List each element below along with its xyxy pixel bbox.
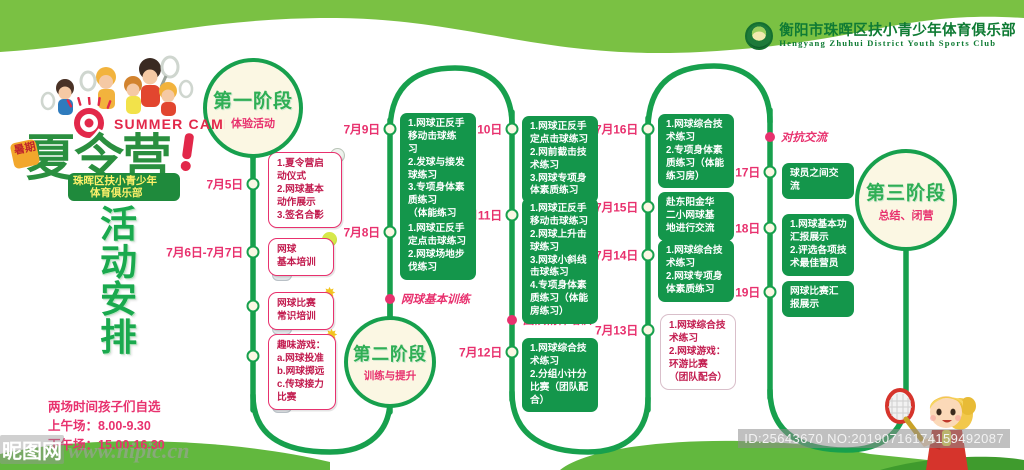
- watermark-site-box: 昵图网: [0, 435, 64, 464]
- club-name-cn: 衡阳市珠晖区扶小青少年体育俱乐部: [779, 24, 1016, 39]
- card-0708[interactable]: 1.网球正反手 定点击球练习 2.网球场地步 伐练习: [400, 218, 476, 280]
- club-name-en: Hengyang Zhuhui District Youth Sports Cl…: [779, 39, 1016, 48]
- card-0714[interactable]: 1.网球综合技 术练习 2.网球专项身 体素质练习: [658, 240, 734, 302]
- card-0719[interactable]: 网球比赛汇 报展示: [782, 281, 854, 317]
- section-marker-basic-training: [385, 294, 395, 304]
- phase-2-subtitle: 训练与提升: [364, 368, 417, 383]
- card-0710[interactable]: 1.网球正反手 定点击球练习 2.网前截击技 术练习 3.网球专项身 体素质练习: [522, 116, 598, 203]
- phase-2-title: 第二阶段: [353, 341, 427, 366]
- page-title-char-0: 活: [74, 206, 164, 244]
- phase-bubble-3[interactable]: 第三阶段 总结、闭营: [855, 149, 957, 251]
- card-0715[interactable]: 赴东阳金华 二小网球基 地进行交流: [658, 192, 734, 241]
- section-label-competition: 对抗交流: [781, 129, 827, 145]
- timeline-node-0712[interactable]: [506, 346, 519, 359]
- section-marker-team-spirit: [507, 315, 517, 325]
- timeline-node-0708[interactable]: [384, 226, 397, 239]
- page-title-char-1: 动: [74, 244, 164, 282]
- card-fun-games[interactable]: 趣味游戏： a.网球投准 b.网球掷远 c.传球接力 比赛: [268, 334, 336, 410]
- timeline-node-common-sense[interactable]: [247, 300, 260, 313]
- date-label-0713: 7月13日: [595, 322, 638, 339]
- card-0717[interactable]: 球员之间交流: [782, 163, 854, 199]
- svg-text:体育俱乐部: 体育俱乐部: [90, 186, 143, 199]
- summer-camp-logo: SUMMER CAMP 夏令营 暑期 珠晖区扶小青少年 体育俱乐部: [10, 97, 225, 205]
- card-0718[interactable]: 1.网球基本功 汇报展示 2.评选各项技 术最佳营员: [782, 214, 854, 276]
- card-0712[interactable]: 1.网球综合技 术练习 2.分组小计分 比赛（团队配 合）: [522, 338, 598, 412]
- phase-3-subtitle: 总结、闭营: [879, 207, 934, 223]
- timeline-node-0709[interactable]: [384, 123, 397, 136]
- club-branding: 衡阳市珠晖区扶小青少年体育俱乐部 Hengyang Zhuhui Distric…: [745, 22, 1016, 50]
- card-0705[interactable]: 1.夏令营启 动仪式 2.网球基本 动作展示 3.签名合影: [268, 152, 342, 228]
- timeline-node-0706[interactable]: [247, 246, 260, 259]
- page-title-char-3: 排: [74, 319, 164, 357]
- timeline-node-0705[interactable]: [247, 178, 260, 191]
- club-seal-icon: [745, 22, 773, 50]
- watermark-site-url: www.nipic.cn: [68, 438, 189, 463]
- timeline-node-0711[interactable]: [506, 209, 519, 222]
- page-title: 活 动 安 排: [74, 206, 164, 357]
- timeline-node-0716[interactable]: [642, 123, 655, 136]
- phase-bubble-2[interactable]: 第二阶段 训练与提升: [344, 316, 436, 408]
- timeline-node-0714[interactable]: [642, 249, 655, 262]
- card-0711[interactable]: 1.网球正反手 移动击球练习 2.网球上升击 球练习 3.网球小斜线 击球练习 …: [522, 198, 598, 324]
- card-0716[interactable]: 1.网球综合技 术练习 2.专项身体素 质练习（体能 练习房）: [658, 114, 734, 188]
- footer-note-line-1: 两场时间孩子们自选: [48, 398, 165, 417]
- timeline-node-fun-games[interactable]: [247, 350, 260, 363]
- date-label-0709: 7月9日: [343, 121, 380, 138]
- date-label-0714: 7月14日: [595, 247, 638, 264]
- card-common-sense[interactable]: 网球比赛 常识培训: [268, 292, 334, 330]
- site-watermark: 昵图网www.nipic.cn: [0, 435, 189, 464]
- date-label-0706-0707: 7月6日-7月7日: [166, 244, 243, 261]
- poster-root: 衡阳市珠晖区扶小青少年体育俱乐部 Hengyang Zhuhui Distric…: [0, 0, 1024, 470]
- card-0706[interactable]: 网球 基本培训: [268, 238, 334, 276]
- timeline-node-0718[interactable]: [764, 222, 777, 235]
- svg-text:珠晖区扶小青少年: 珠晖区扶小青少年: [73, 174, 157, 187]
- timeline-node-0719[interactable]: [764, 286, 777, 299]
- date-label-0712: 7月12日: [459, 344, 502, 361]
- page-title-char-2: 安: [74, 281, 164, 319]
- phase-3-title: 第三阶段: [866, 178, 946, 205]
- timeline-node-0710[interactable]: [506, 123, 519, 136]
- section-marker-competition: [765, 132, 775, 142]
- timeline-node-0715[interactable]: [642, 201, 655, 214]
- date-label-0716: 7月16日: [595, 121, 638, 138]
- timeline-node-0713[interactable]: [642, 324, 655, 337]
- phase-1-subtitle: 体验活动: [231, 115, 275, 131]
- timeline-node-0717[interactable]: [764, 166, 777, 179]
- girl-with-racket-icon: [884, 384, 980, 470]
- date-label-0715: 7月15日: [595, 199, 638, 216]
- section-label-basic-training: 网球基本训练: [401, 291, 470, 307]
- card-0713[interactable]: 1.网球综合技 术练习 2.网球游戏： 环游比赛 （团队配合）: [660, 314, 736, 390]
- date-label-0708: 7月8日: [343, 224, 380, 241]
- footer-note-line-2: 上午场：8.00-9.30: [48, 417, 165, 436]
- image-id-watermark: ID:25643670 NO:20190716174159492087: [738, 429, 1010, 448]
